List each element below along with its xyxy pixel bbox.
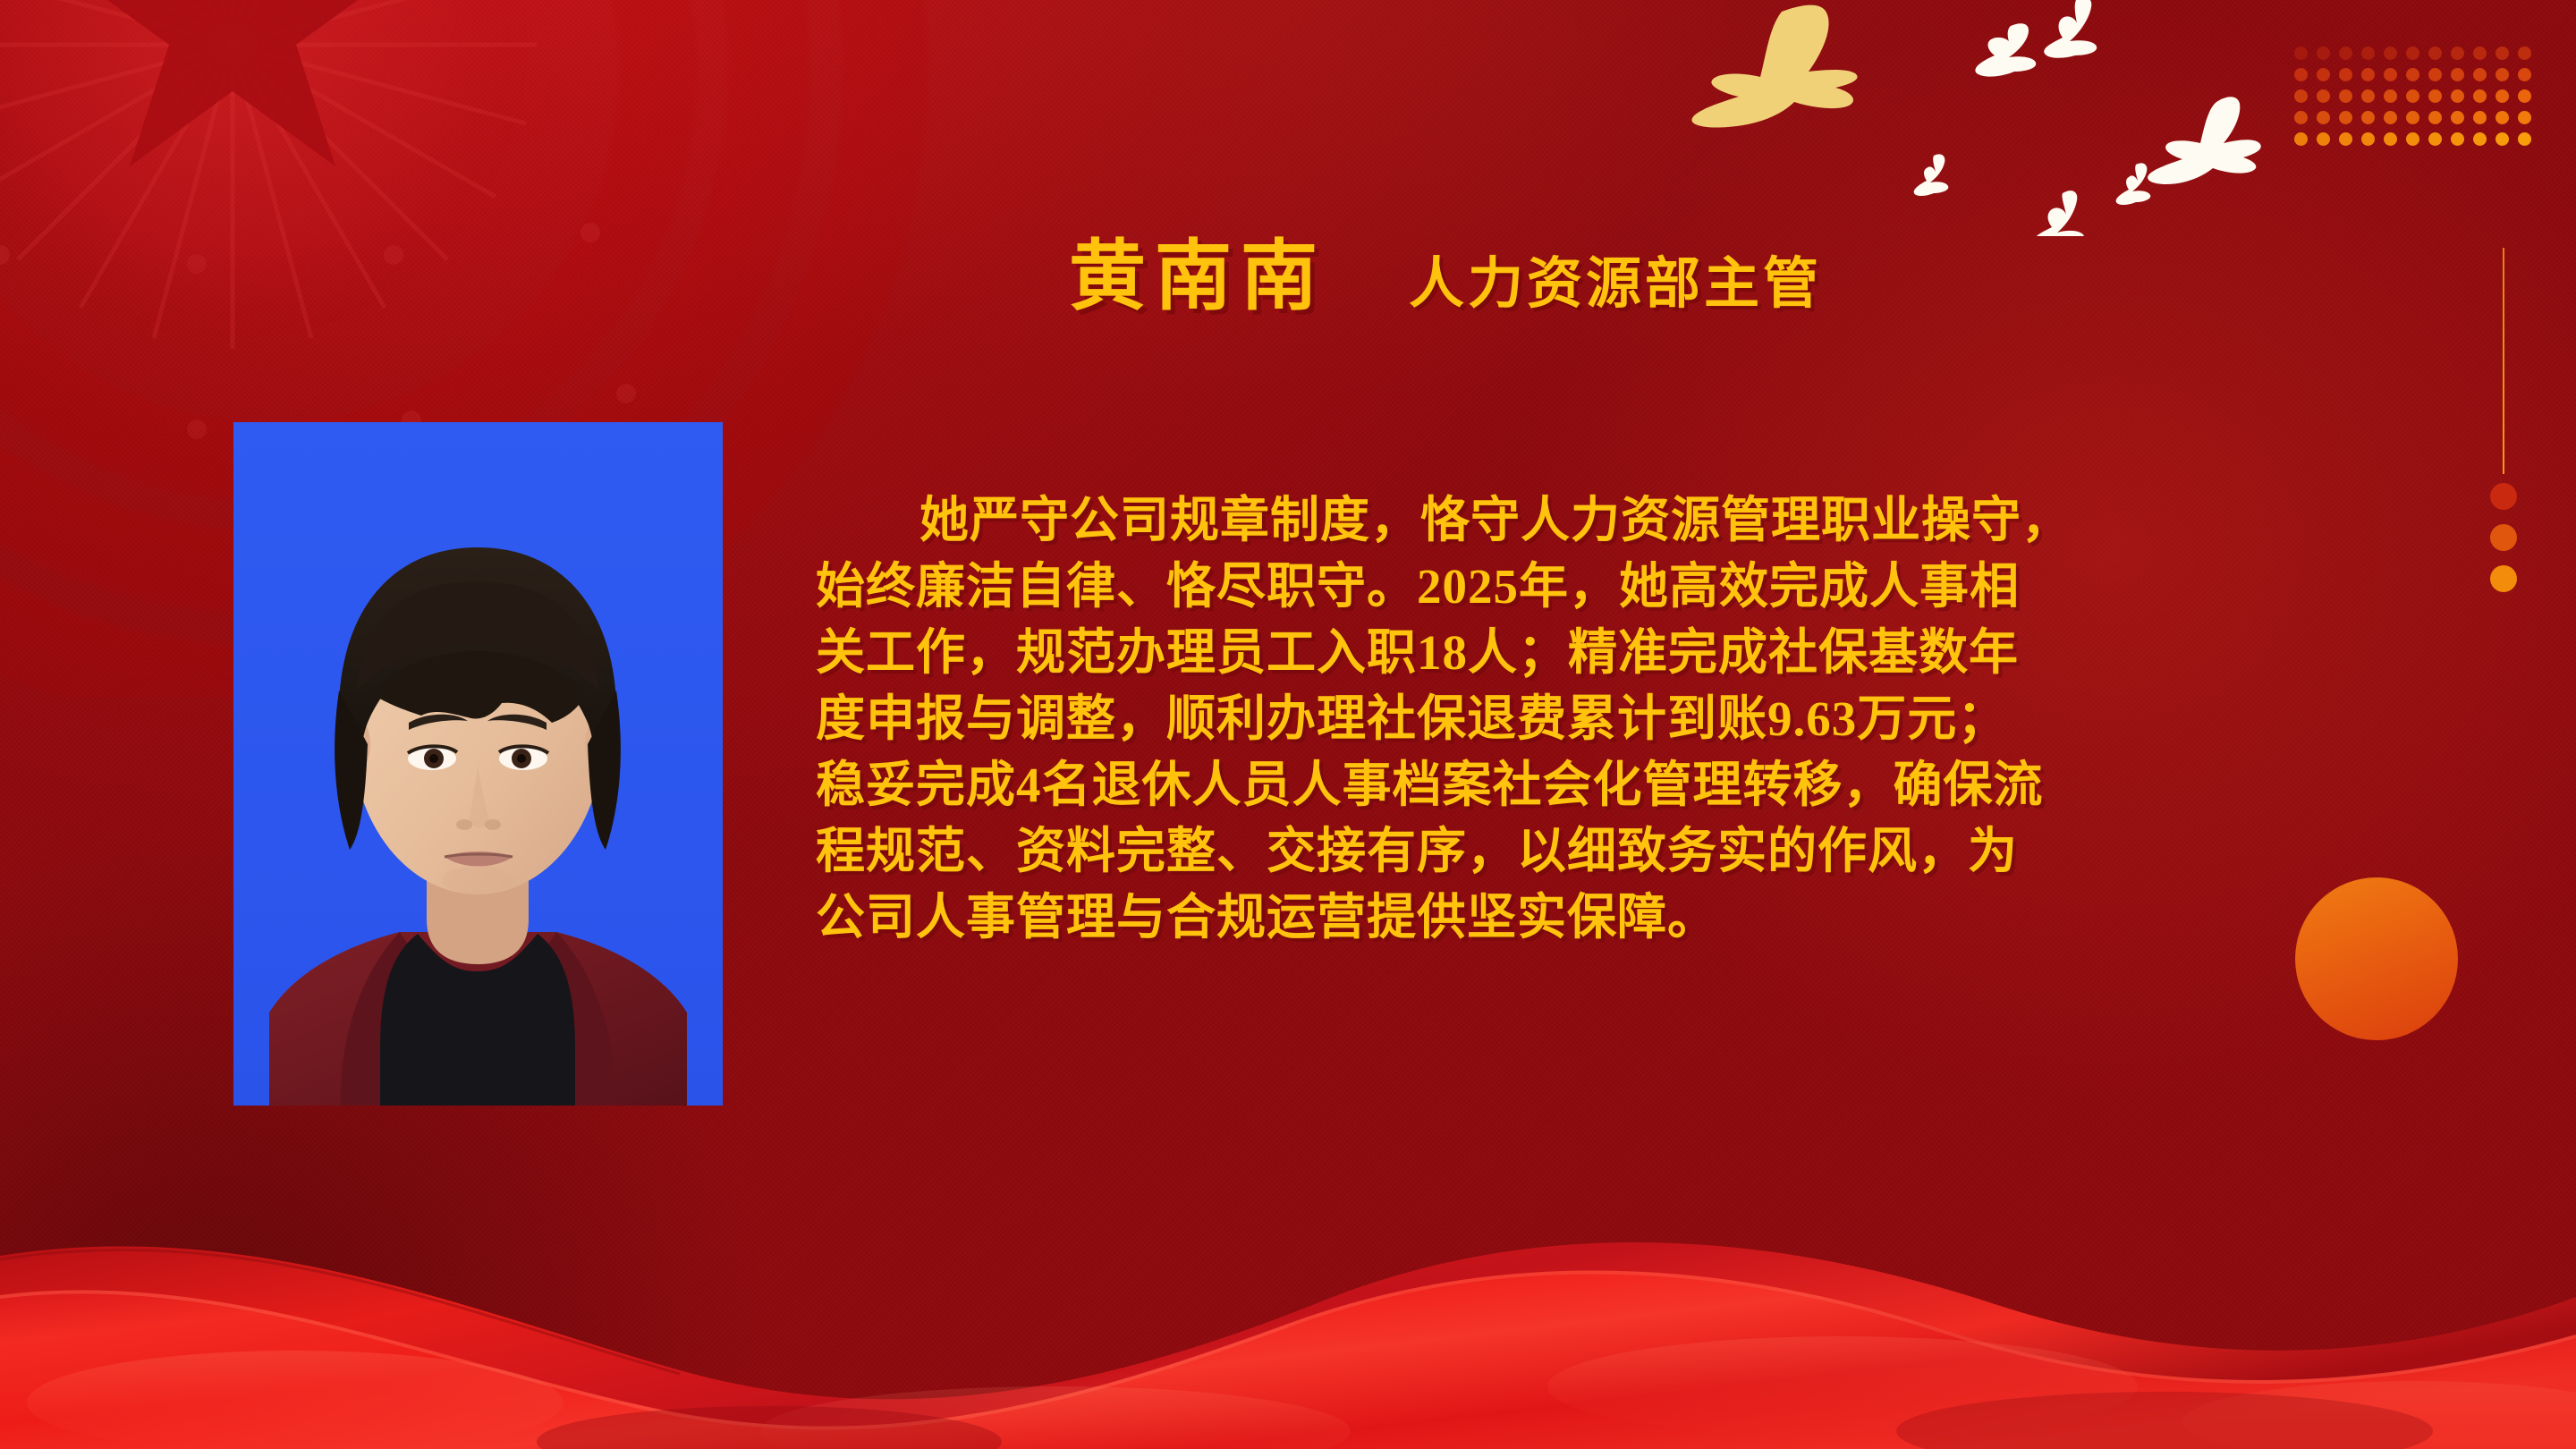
bio-line: 稳妥完成4名退休人员人事档案社会化管理转移，确保流: [816, 752, 2220, 818]
accent-bead-1: [2490, 483, 2517, 510]
biography-text: 她严守公司规章制度，恪守人力资源管理职业操守， 始终廉洁自律、恪尽职守。2025…: [816, 487, 2220, 951]
bio-line: 始终廉洁自律、恪尽职守。2025年，她高效完成人事相: [816, 554, 2220, 620]
page-title: 黄南南: [1069, 213, 1326, 325]
accent-bead-2: [2490, 524, 2517, 551]
star-emblem-decoration: [0, 0, 572, 385]
portrait-photo: [233, 422, 723, 1106]
accent-bead-3: [2490, 565, 2517, 592]
vertical-accent-line: [2503, 248, 2504, 474]
honor-slide: 黄南南 人力资源部主管: [0, 0, 2576, 1449]
dove-large-gold-icon: [1691, 5, 1857, 128]
bio-line: 关工作，规范办理员工入职18人；精准完成社保基数年: [816, 620, 2220, 686]
large-orange-circle-decoration: [2295, 877, 2458, 1040]
bio-line: 度申报与调整，顺利办理社保退费累计到账9.63万元；: [816, 686, 2220, 752]
job-title: 人力资源部主管: [1409, 238, 1822, 318]
dove-tiny-white-1-icon: [1914, 154, 1949, 196]
star-icon: [65, 0, 400, 166]
dove-medium-white-icon: [2148, 97, 2261, 184]
silk-ribbon-decoration: [0, 1163, 2576, 1449]
bio-line: 公司人事管理与合规运营提供坚实保障。: [816, 885, 2220, 951]
dove-small-white-3-icon: [2033, 191, 2084, 236]
flying-doves-decoration: [1673, 0, 2299, 236]
header: 黄南南 人力资源部主管: [1069, 213, 1822, 325]
bio-line: 程规范、资料完整、交接有序，以细致务实的作风，为: [816, 818, 2220, 885]
dove-small-white-2-icon: [2044, 0, 2097, 58]
photo-subject: [233, 422, 723, 1106]
dot-matrix-decoration: [2294, 47, 2540, 154]
bio-line: 她严守公司规章制度，恪守人力资源管理职业操守，: [816, 487, 2220, 554]
dove-tiny-white-2-icon: [2116, 163, 2151, 205]
dove-small-white-1-icon: [1975, 23, 2036, 76]
